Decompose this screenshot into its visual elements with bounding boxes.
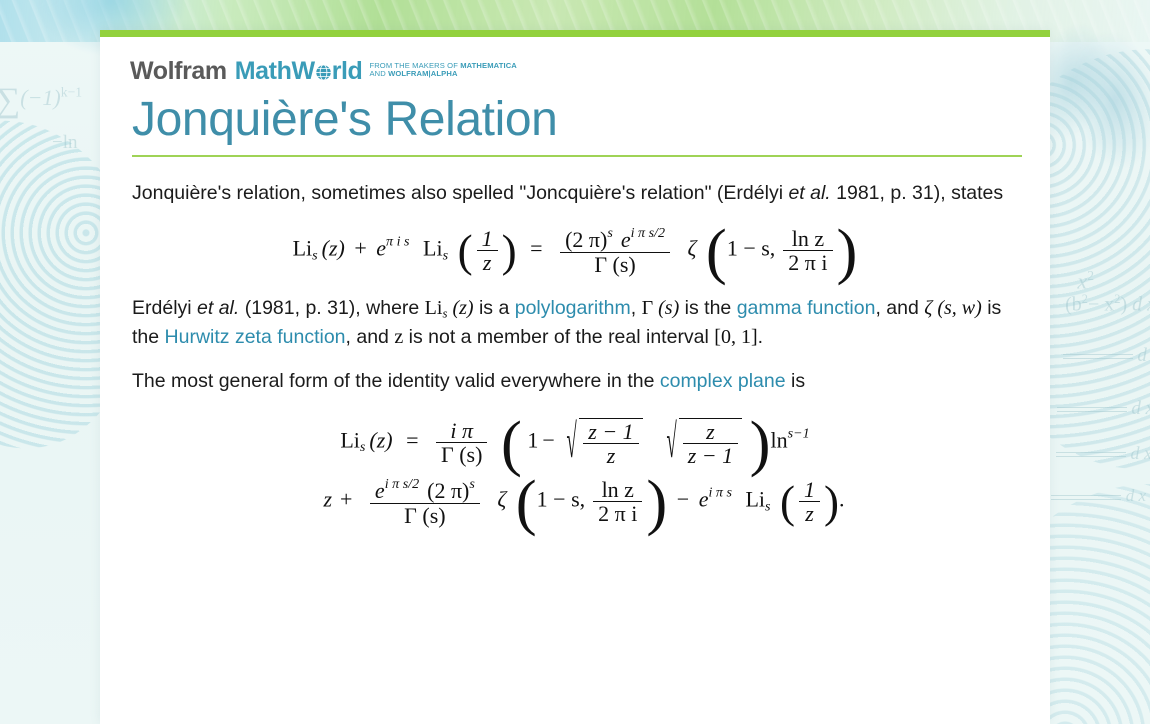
p2-li-text: Li xyxy=(425,297,443,319)
eq2-expfrac-2pi: (2 π) xyxy=(427,479,469,504)
eq1-main-fraction: (2 π)sei π s/2 Γ (s) xyxy=(560,226,670,275)
eq1-main-den: Γ (s) xyxy=(560,252,670,276)
tagline-line-2-lead: AND xyxy=(369,69,388,78)
eq2-sqrt-1-radicand: z − 1z xyxy=(579,418,642,467)
p2-inline-z: z xyxy=(394,326,403,348)
eq2-minus: − xyxy=(542,428,554,453)
eq1-li-sub: s xyxy=(312,248,317,264)
decorative-sum-body: (−1) xyxy=(20,85,61,110)
eq1-exp-e: e xyxy=(376,236,386,261)
eq1-zeta-fraction: ln z2 π i xyxy=(783,228,832,274)
eq2-sqrt-2-radicand: zz − 1 xyxy=(679,418,742,467)
eq2-plus: + xyxy=(340,487,352,512)
p2-zeta-arg: (s, w) xyxy=(937,297,981,319)
p2-tail-lead: , and xyxy=(346,326,395,348)
eq2-sqrt-1-num: z − 1 xyxy=(583,421,638,443)
eq2-minus-2: − xyxy=(677,487,689,512)
eq2-ipi-den: Γ (s) xyxy=(436,442,487,466)
eq2-sqrt-1: z − 1z xyxy=(566,418,642,467)
eq1-inner-den: z xyxy=(477,250,498,274)
eq2-sqrt-2-fraction: zz − 1 xyxy=(683,421,738,467)
eq2-zeta-num: ln z xyxy=(593,479,642,501)
logo-w-text: W xyxy=(291,59,314,84)
link-gamma-function[interactable]: gamma function xyxy=(737,297,876,319)
eq1-inner-fraction: 1z xyxy=(477,228,498,274)
eq2-sqrt-2-num: z xyxy=(683,421,738,443)
eq2-paren-open: ( xyxy=(501,427,522,460)
eq2-li2-den: z xyxy=(799,501,820,525)
logo-mathworld-text: MathW rld xyxy=(235,59,363,84)
eq1-e: e xyxy=(621,228,631,253)
decorative-sum-exponent: k−1 xyxy=(61,85,82,100)
link-complex-plane[interactable]: complex plane xyxy=(660,370,786,392)
content-card: Wolfram MathW rld FROM THE MAKERS OF MAT… xyxy=(100,30,1050,724)
link-polylogarithm[interactable]: polylogarithm xyxy=(515,297,631,319)
eq2-zeta-arg1: 1 − s, xyxy=(537,487,585,512)
equation-2-line-2: z+ ei π s/2(2 π)s Γ (s) ζ (1 − s,ln z2 π… xyxy=(132,477,1018,526)
eq2-li: Li xyxy=(340,428,360,453)
tagline-wolframalpha: WOLFRAM|ALPHA xyxy=(388,69,458,78)
eq2-zeta: ζ xyxy=(497,487,506,512)
p2-gamma-arg: (s) xyxy=(658,297,679,319)
paragraph-intro: Jonquière's relation, sometimes also spe… xyxy=(132,179,1018,209)
eq2-li2-fraction: 1z xyxy=(799,479,820,525)
eq1-zeta-arg1: 1 − s, xyxy=(727,236,775,261)
p2-inline-gamma: Γ (s) xyxy=(642,297,680,319)
eq2-expfrac: ei π s/2(2 π)s Γ (s) xyxy=(370,477,480,526)
eq2-period: . xyxy=(839,487,845,512)
title-underline-rule xyxy=(132,155,1022,157)
eq2-expfrac-e: e xyxy=(375,479,385,504)
eq1-zeta: ζ xyxy=(688,236,697,261)
eq2-li2-paren-close: ) xyxy=(824,489,839,515)
eq2-zeta-paren-close: ) xyxy=(646,486,667,519)
eq2-zeta-paren-open: ( xyxy=(516,486,537,519)
logo-tagline: FROM THE MAKERS OF MATHEMATICA AND WOLFR… xyxy=(369,59,516,78)
eq2-ln: ln xyxy=(771,428,788,453)
p2-isthe: is the xyxy=(679,297,736,319)
site-logo[interactable]: Wolfram MathW rld FROM THE MAKERS OF MAT… xyxy=(130,59,1020,89)
paragraph-intro-part2: 1981, p. 31), states xyxy=(831,182,1003,204)
eq1-zeta-paren-close: ) xyxy=(837,235,858,268)
eq2-ipi-num: i π xyxy=(436,420,487,442)
p3-lead: The most general form of the identity va… xyxy=(132,370,660,392)
p2-isa: is a xyxy=(474,297,515,319)
eq1-e-sup: i π s/2 xyxy=(631,225,665,241)
eq2-one: 1 xyxy=(527,428,538,453)
link-hurwitz-zeta-function[interactable]: Hurwitz zeta function xyxy=(165,326,346,348)
eq1-two-pi-sup: s xyxy=(607,225,612,241)
tagline-line-2: AND WOLFRAM|ALPHA xyxy=(369,69,457,78)
paragraph-definitions: Erdélyi et al. (1981, p. 31), where Lis … xyxy=(132,294,1018,353)
eq2-zeta-den: 2 π i xyxy=(593,501,642,525)
p2-comma: , xyxy=(631,297,642,319)
p2-tail: is not a member of the real interval xyxy=(403,326,714,348)
p2-lead: Erdélyi xyxy=(132,297,197,319)
decorative-formula-left-sum: ∑(−1)k−1 xyxy=(0,82,82,120)
p2-after-italic: (1981, p. 31), where xyxy=(239,297,424,319)
p2-li-sub: s xyxy=(442,306,447,320)
logo-rld-text: rld xyxy=(332,59,363,84)
eq2-expfrac-2pi-sup: s xyxy=(469,476,474,492)
eq1-li: Li xyxy=(293,236,313,261)
equation-general-form: Lis(z) = i π Γ (s) ( 1− z − 1z zz − 1 )l… xyxy=(132,418,1018,526)
eq1-plus: + xyxy=(354,236,366,261)
eq2-e2-sup: i π s xyxy=(708,485,731,501)
eq2-sqrt-1-den: z xyxy=(583,443,638,467)
equation-1-line: Lis(z) + eπ i s Lis (1z) = (2 π)sei π s/… xyxy=(132,226,1018,275)
p2-inline-li: Lis (z) xyxy=(425,297,474,319)
paragraph-general-form: The most general form of the identity va… xyxy=(132,367,1018,397)
eq1-zeta-den: 2 π i xyxy=(783,250,832,274)
paragraph-intro-etal: et al. xyxy=(788,182,830,204)
p2-interval: [0, 1] xyxy=(714,326,757,348)
eq1-main-num: (2 π)sei π s/2 xyxy=(560,226,670,251)
eq2-li-sub: s xyxy=(360,440,365,456)
p3-tail: is xyxy=(786,370,806,392)
equation-jonquiere-relation: Lis(z) + eπ i s Lis (1z) = (2 π)sei π s/… xyxy=(132,226,1018,275)
p2-inline-zeta: ζ (s, w) xyxy=(924,297,982,319)
eq1-li2: Li xyxy=(423,236,443,261)
eq2-li-arg: (z) xyxy=(369,428,392,453)
equation-2-line-1: Lis(z) = i π Γ (s) ( 1− z − 1z zz − 1 )l… xyxy=(132,418,1018,467)
eq1-zeta-paren-open: ( xyxy=(706,235,727,268)
eq1-inner-num: 1 xyxy=(477,228,498,250)
eq1-paren-open: ( xyxy=(458,238,473,264)
eq1-two-pi: (2 π) xyxy=(565,228,607,253)
eq2-li2-sub: s xyxy=(765,499,770,515)
p2-li-arg: (z) xyxy=(452,297,473,319)
p2-etal: et al. xyxy=(197,297,239,319)
p2-gamma-text: Γ xyxy=(642,297,654,319)
logo-wolfram-text: Wolfram xyxy=(130,59,227,84)
article-body: Jonquière's relation, sometimes also spe… xyxy=(130,179,1020,527)
eq1-exp-sup: π i s xyxy=(386,234,409,250)
eq1-equals: = xyxy=(530,236,542,261)
eq2-expfrac-e-sup: i π s/2 xyxy=(385,476,419,492)
eq2-sqrt-2: zz − 1 xyxy=(666,418,742,467)
eq2-paren-close: ) xyxy=(750,427,771,460)
eq2-li2-paren-open: ( xyxy=(780,489,795,515)
p2-zeta-text: ζ xyxy=(924,297,932,319)
logo-math-text: Math xyxy=(235,59,292,84)
eq2-li2: Li xyxy=(745,487,765,512)
eq1-zeta-num: ln z xyxy=(783,228,832,250)
eq2-e2: e xyxy=(699,487,709,512)
globe-icon xyxy=(315,61,332,78)
eq2-expfrac-num: ei π s/2(2 π)s xyxy=(370,477,480,502)
eq2-z: z xyxy=(323,487,332,512)
page-title: Jonquière's Relation xyxy=(132,93,1020,147)
eq2-sqrt-2-den: z − 1 xyxy=(683,443,738,467)
p2-period: . xyxy=(758,326,763,348)
eq2-zeta-fraction: ln z2 π i xyxy=(593,479,642,525)
eq2-ln-sup: s−1 xyxy=(788,426,810,442)
p2-and: , and xyxy=(875,297,924,319)
eq2-expfrac-den: Γ (s) xyxy=(370,503,480,527)
eq1-paren-close: ) xyxy=(502,238,517,264)
eq2-li2-num: 1 xyxy=(799,479,820,501)
paragraph-intro-part1: Jonquière's relation, sometimes also spe… xyxy=(132,182,788,204)
eq2-equals: = xyxy=(406,428,418,453)
eq2-ipi-fraction: i π Γ (s) xyxy=(436,420,487,466)
decorative-sigma: ∑ xyxy=(0,82,20,119)
eq1-li-arg: (z) xyxy=(322,236,345,261)
eq1-li2-sub: s xyxy=(443,248,448,264)
tagline-mathematica: MATHEMATICA xyxy=(460,61,517,70)
eq2-sqrt-1-fraction: z − 1z xyxy=(583,421,638,467)
